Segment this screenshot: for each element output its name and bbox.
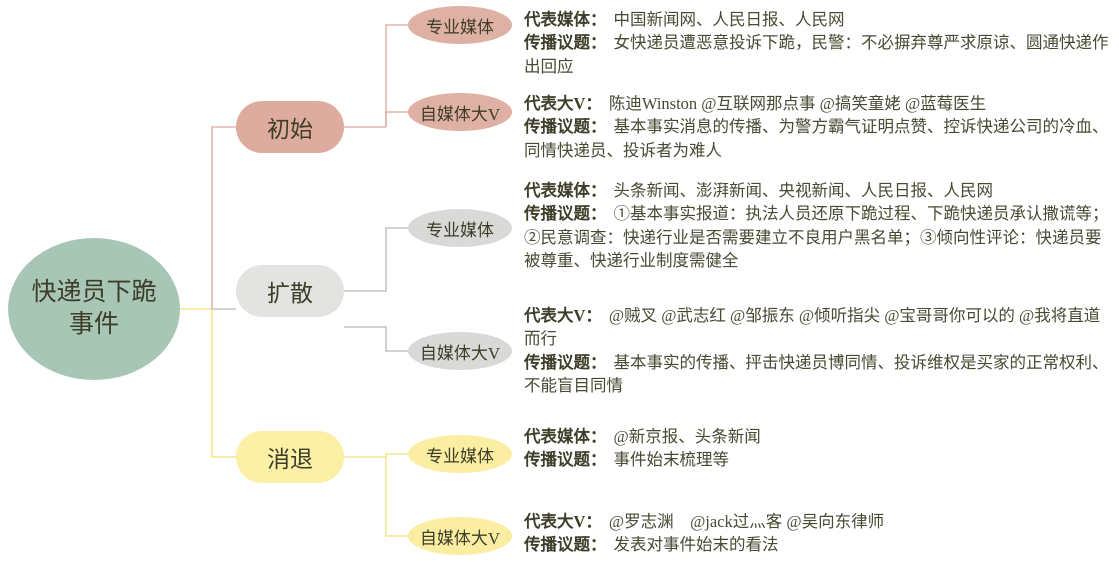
leaf-node-label: 专业媒体 xyxy=(426,216,494,241)
detail-topic-value: 女快递员遭恶意投诉下跪，民警：不必摒弃尊严求原谅、圆通快递作出回应 xyxy=(524,33,1109,75)
detail-topic-label: 传播议题： xyxy=(524,117,607,136)
detail-topic-value: ①基本事实报道：执法人员还原下跪过程、下跪快递员承认撒谎等；②民意调查：快递行业… xyxy=(524,204,1109,270)
detail-source-line: 代表媒体：中国新闻网、人民日报、人民网 xyxy=(524,8,1114,31)
leaf-node-decline-influencer[interactable]: 自媒体大V xyxy=(408,517,512,555)
detail-source-value: @贼叉 @武志红 @邹振东 @倾听指尖 @宝哥哥你可以的 @我将直道而行 xyxy=(524,306,1100,348)
detail-block-initial-professional-media: 代表媒体：中国新闻网、人民日报、人民网 传播议题：女快递员遭恶意投诉下跪，民警：… xyxy=(524,8,1114,78)
leaf-node-decline-professional-media[interactable]: 专业媒体 xyxy=(408,435,512,473)
detail-topic-label: 传播议题： xyxy=(524,535,607,554)
stage-node-decline-label: 消退 xyxy=(267,440,313,474)
leaf-node-initial-influencer[interactable]: 自媒体大V xyxy=(408,93,512,131)
detail-block-initial-influencer: 代表大V：陈迪Winston @互联网那点事 @搞笑童姥 @蓝莓医生 传播议题：… xyxy=(524,92,1114,162)
detail-topic-line: 传播议题：①基本事实报道：执法人员还原下跪过程、下跪快递员承认撒谎等；②民意调查… xyxy=(524,202,1114,272)
detail-topic-label: 传播议题： xyxy=(524,353,607,372)
detail-topic-line: 传播议题：基本事实的传播、抨击快递员博同情、投诉维权是买家的正常权利、不能盲目同… xyxy=(524,351,1114,398)
detail-topic-value: 事件始末梳理等 xyxy=(614,450,730,469)
detail-source-line: 代表大V：陈迪Winston @互联网那点事 @搞笑童姥 @蓝莓医生 xyxy=(524,92,1114,115)
detail-source-label: 代表大V： xyxy=(524,512,602,531)
detail-source-label: 代表大V： xyxy=(524,94,602,113)
detail-topic-label: 传播议题： xyxy=(524,450,607,469)
detail-source-value: 中国新闻网、人民日报、人民网 xyxy=(614,10,845,29)
detail-source-label: 代表媒体： xyxy=(524,427,607,446)
detail-topic-label: 传播议题： xyxy=(524,204,607,223)
mindmap-canvas: 快递员下跪事件 初始 扩散 消退 专业媒体 自媒体大V 专业媒体 自媒体大V 专… xyxy=(0,0,1119,569)
detail-block-decline-influencer: 代表大V：@罗志渊 @jack过灬客 @吴向东律师 传播议题：发表对事件始末的看… xyxy=(524,510,1114,557)
detail-source-value: @新京报、头条新闻 xyxy=(614,427,761,446)
detail-block-spread-influencer: 代表大V：@贼叉 @武志红 @邹振东 @倾听指尖 @宝哥哥你可以的 @我将直道而… xyxy=(524,304,1114,398)
stage-node-decline[interactable]: 消退 xyxy=(236,431,344,483)
detail-source-label: 代表媒体： xyxy=(524,10,607,29)
root-node[interactable]: 快递员下跪事件 xyxy=(8,238,180,380)
detail-source-line: 代表媒体：@新京报、头条新闻 xyxy=(524,425,1114,448)
leaf-node-label: 专业媒体 xyxy=(426,13,494,38)
leaf-node-label: 专业媒体 xyxy=(426,442,494,467)
detail-topic-value: 基本事实的传播、抨击快递员博同情、投诉维权是买家的正常权利、不能盲目同情 xyxy=(524,353,1109,395)
leaf-node-label: 自媒体大V xyxy=(420,100,500,125)
detail-source-value: 头条新闻、澎湃新闻、央视新闻、人民日报、人民网 xyxy=(614,181,994,200)
leaf-node-initial-professional-media[interactable]: 专业媒体 xyxy=(408,6,512,44)
detail-source-value: @罗志渊 @jack过灬客 @吴向东律师 xyxy=(609,512,884,531)
detail-topic-line: 传播议题：基本事实消息的传播、为警方霸气证明点赞、控诉快递公司的冷血、同情快递员… xyxy=(524,115,1114,162)
detail-topic-line: 传播议题：发表对事件始末的看法 xyxy=(524,533,1114,556)
detail-topic-value: 发表对事件始末的看法 xyxy=(614,535,779,554)
leaf-node-label: 自媒体大V xyxy=(420,524,500,549)
detail-source-label: 代表媒体： xyxy=(524,181,607,200)
detail-source-line: 代表大V：@罗志渊 @jack过灬客 @吴向东律师 xyxy=(524,510,1114,533)
stage-node-initial[interactable]: 初始 xyxy=(236,101,344,153)
detail-source-line: 代表大V：@贼叉 @武志红 @邹振东 @倾听指尖 @宝哥哥你可以的 @我将直道而… xyxy=(524,304,1114,351)
detail-source-value: 陈迪Winston @互联网那点事 @搞笑童姥 @蓝莓医生 xyxy=(609,94,986,113)
detail-block-decline-professional-media: 代表媒体：@新京报、头条新闻 传播议题：事件始末梳理等 xyxy=(524,425,1114,472)
leaf-node-spread-influencer[interactable]: 自媒体大V xyxy=(408,332,512,370)
detail-topic-label: 传播议题： xyxy=(524,33,607,52)
detail-topic-line: 传播议题：女快递员遭恶意投诉下跪，民警：不必摒弃尊严求原谅、圆通快递作出回应 xyxy=(524,31,1114,78)
detail-source-line: 代表媒体：头条新闻、澎湃新闻、央视新闻、人民日报、人民网 xyxy=(524,179,1114,202)
leaf-node-spread-professional-media[interactable]: 专业媒体 xyxy=(408,209,512,247)
detail-source-label: 代表大V： xyxy=(524,306,602,325)
stage-node-spread[interactable]: 扩散 xyxy=(236,265,344,317)
root-node-label: 快递员下跪事件 xyxy=(24,277,164,341)
stage-node-spread-label: 扩散 xyxy=(267,274,313,308)
leaf-node-label: 自媒体大V xyxy=(420,339,500,364)
stage-node-initial-label: 初始 xyxy=(267,110,313,144)
detail-block-spread-professional-media: 代表媒体：头条新闻、澎湃新闻、央视新闻、人民日报、人民网 传播议题：①基本事实报… xyxy=(524,179,1114,273)
detail-topic-line: 传播议题：事件始末梳理等 xyxy=(524,448,1114,471)
detail-topic-value: 基本事实消息的传播、为警方霸气证明点赞、控诉快递公司的冷血、同情快递员、投诉者为… xyxy=(524,117,1109,159)
